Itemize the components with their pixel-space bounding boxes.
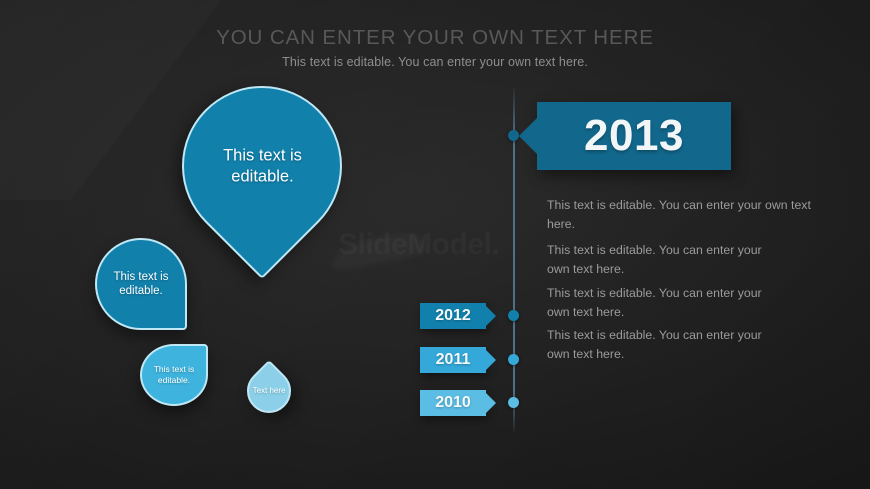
timeline-year-tag-2010-label: 2010 [435,394,471,412]
page-subtitle: This text is editable. You can enter you… [0,55,870,69]
map-pin-large[interactable]: This text is editable. [149,53,375,279]
watermark-text: SlideModel [338,228,491,261]
map-pin-medium-label: This text is editable. [103,270,179,299]
map-pin-tiny-label: Text here [251,386,287,396]
timeline-paragraph-3: This text is editable. You can enter you… [547,284,769,322]
timeline-paragraph-1: This text is editable. You can enter you… [547,196,823,234]
timeline-dot-2013 [508,130,519,141]
slide-canvas: YOU CAN ENTER YOUR OWN TEXT HERE This te… [0,0,870,489]
page-title: YOU CAN ENTER YOUR OWN TEXT HERE [0,26,870,50]
timeline-year-tag-2012-notch [486,306,496,326]
timeline-paragraph-2: This text is editable. You can enter you… [547,241,769,279]
map-pin-small[interactable]: This text is editable. [140,344,208,406]
timeline-year-tag-2011-label: 2011 [436,351,471,369]
timeline-year-tag-2011[interactable]: 2011 [420,347,486,373]
timeline-dot-2010 [508,397,519,408]
map-pin-medium[interactable]: This text is editable. [95,238,187,330]
timeline-year-tag-2012-label: 2012 [435,307,471,325]
timeline-year-tag-2012[interactable]: 2012 [420,303,486,329]
timeline-dot-2011 [508,354,519,365]
watermark-dot: . [491,228,499,261]
map-pin-tiny[interactable]: Text here [238,360,300,422]
slide-header: YOU CAN ENTER YOUR OWN TEXT HERE This te… [0,26,870,69]
watermark-swoosh [329,231,428,272]
timeline-year-tag-2011-notch [486,350,496,370]
timeline-dot-2012 [508,310,519,321]
watermark-logo: SlideModel. [338,228,499,262]
timeline-year-tag-2010[interactable]: 2010 [420,390,486,416]
map-pin-small-label: This text is editable. [144,364,204,385]
map-pin-large-label: This text is editable. [200,145,325,187]
timeline-banner-2013-year: 2013 [584,111,684,161]
timeline-paragraph-4: This text is editable. You can enter you… [547,326,769,364]
timeline-banner-2013[interactable]: 2013 [537,102,731,170]
timeline-year-tag-2010-notch [486,393,496,413]
